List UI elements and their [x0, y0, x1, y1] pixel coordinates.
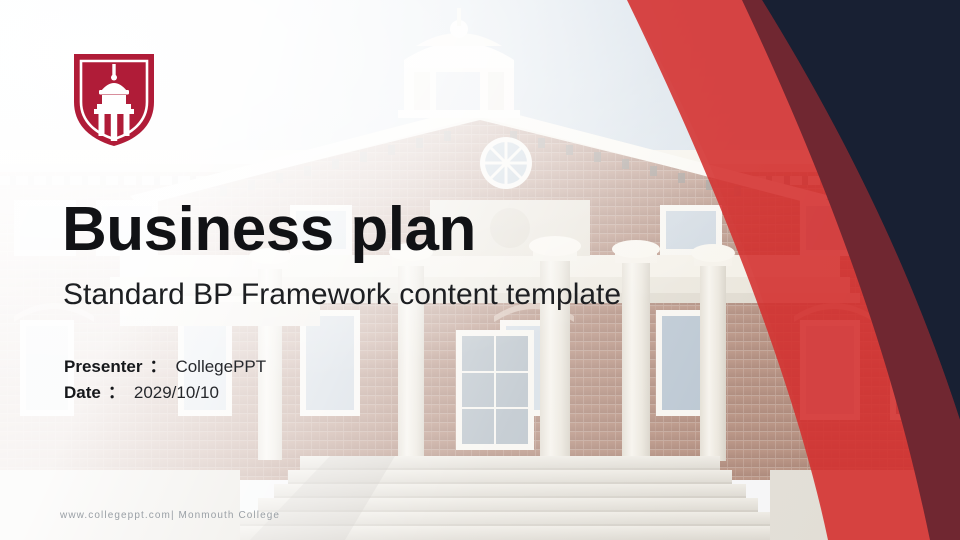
meta-row-date: Date ： 2029/10/10 [64, 380, 266, 406]
meta-label-date: Date [64, 380, 101, 406]
meta-value-date: 2029/10/10 [129, 380, 219, 406]
meta-label-presenter: Presenter [64, 354, 142, 380]
footer-credit: www.collegeppt.com| Monmouth College [60, 510, 280, 521]
page-title: Business plan [62, 199, 476, 261]
title-slide: Business plan Standard BP Framework cont… [0, 0, 960, 540]
page-subtitle: Standard BP Framework content template [63, 280, 621, 310]
meta-value-presenter: CollegePPT [170, 354, 266, 380]
meta-colon-presenter: ： [142, 354, 170, 380]
presentation-meta: Presenter ： CollegePPT Date ： 2029/10/10 [64, 354, 266, 406]
meta-row-presenter: Presenter ： CollegePPT [64, 354, 266, 380]
monmouth-college-shield-logo [70, 50, 158, 148]
meta-colon-date: ： [101, 380, 129, 406]
